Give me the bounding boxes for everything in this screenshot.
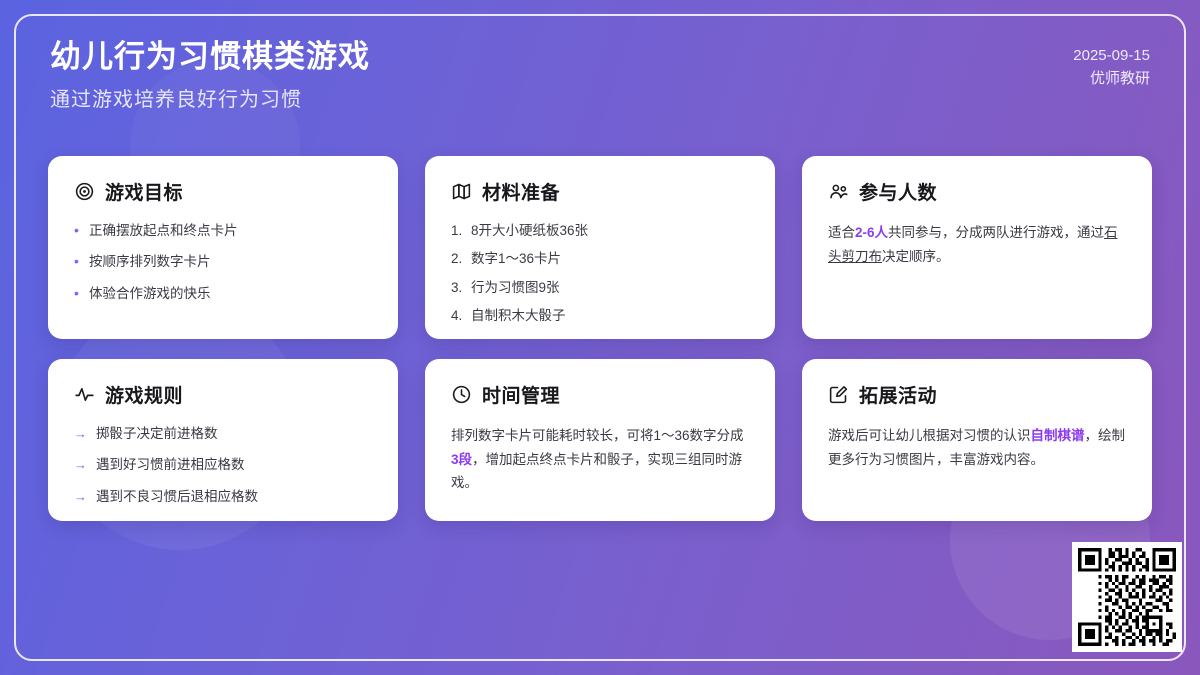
list-item: 体验合作游戏的快乐 (74, 284, 372, 304)
page-title: 幼儿行为习惯棋类游戏 (50, 38, 370, 77)
card-header: 材料准备 (451, 178, 749, 205)
target-icon (74, 181, 95, 202)
text-part: 游戏后可让幼儿根据对习惯的认识 (828, 428, 1031, 443)
qr-code-graphic (1078, 548, 1176, 646)
highlight-count: 2-6人 (855, 225, 888, 240)
users-icon (828, 181, 849, 202)
activity-icon (74, 384, 95, 405)
header-organization: 优师教研 (1073, 67, 1150, 90)
list-item: 按顺序排列数字卡片 (74, 252, 372, 272)
list-item: 数字1～36卡片 (451, 249, 749, 269)
card-grid: 游戏目标 正确摆放起点和终点卡片 按顺序排列数字卡片 体验合作游戏的快乐 材料准… (48, 156, 1152, 521)
list-item: 掷骰子决定前进格数 (74, 424, 372, 444)
list-item: 8开大小硬纸板36张 (451, 221, 749, 241)
card-header: 游戏目标 (74, 178, 372, 205)
card-header: 时间管理 (451, 381, 749, 408)
card-header: 游戏规则 (74, 381, 372, 408)
card-title: 时间管理 (482, 381, 560, 408)
card-title: 材料准备 (482, 178, 560, 205)
card-participants: 参与人数 适合2-6人共同参与，分成两队进行游戏，通过石头剪刀布决定顺序。 (802, 156, 1152, 339)
card-time-management: 时间管理 排列数字卡片可能耗时较长，可将1～36数字分成3段，增加起点终点卡片和… (425, 359, 775, 521)
card-header: 拓展活动 (828, 381, 1126, 408)
map-icon (451, 181, 472, 202)
highlight-term: 自制棋谱 (1031, 428, 1085, 443)
time-management-text: 排列数字卡片可能耗时较长，可将1～36数字分成3段，增加起点终点卡片和骰子，实现… (451, 424, 749, 495)
page-header: 幼儿行为习惯棋类游戏 通过游戏培养良好行为习惯 2025-09-15 优师教研 (50, 38, 1150, 112)
text-part: 适合 (828, 225, 855, 240)
card-game-goals: 游戏目标 正确摆放起点和终点卡片 按顺序排列数字卡片 体验合作游戏的快乐 (48, 156, 398, 339)
text-part: 排列数字卡片可能耗时较长，可将1～36数字分成 (451, 428, 744, 443)
card-extension-activities: 拓展活动 游戏后可让幼儿根据对习惯的认识自制棋谱，绘制更多行为习惯图片，丰富游戏… (802, 359, 1152, 521)
materials-list: 8开大小硬纸板36张 数字1～36卡片 行为习惯图9张 自制积木大骰子 (451, 221, 749, 326)
qr-code[interactable] (1072, 542, 1182, 652)
header-date: 2025-09-15 (1073, 44, 1150, 67)
text-part: ，增加起点终点卡片和骰子，实现三组同时游戏。 (451, 452, 742, 491)
card-title: 游戏目标 (105, 178, 183, 205)
card-title: 参与人数 (859, 178, 937, 205)
participants-text: 适合2-6人共同参与，分成两队进行游戏，通过石头剪刀布决定顺序。 (828, 221, 1126, 268)
list-item: 遇到不良习惯后退相应格数 (74, 487, 372, 507)
header-meta: 2025-09-15 优师教研 (1073, 38, 1150, 91)
goal-list: 正确摆放起点和终点卡片 按顺序排列数字卡片 体验合作游戏的快乐 (74, 221, 372, 304)
clock-icon (451, 384, 472, 405)
edit-square-icon (828, 384, 849, 405)
list-item: 遇到好习惯前进相应格数 (74, 455, 372, 475)
text-part: 决定顺序。 (882, 249, 950, 264)
card-title: 拓展活动 (859, 381, 937, 408)
card-title: 游戏规则 (105, 381, 183, 408)
card-materials: 材料准备 8开大小硬纸板36张 数字1～36卡片 行为习惯图9张 自制积木大骰子 (425, 156, 775, 339)
card-game-rules: 游戏规则 掷骰子决定前进格数 遇到好习惯前进相应格数 遇到不良习惯后退相应格数 (48, 359, 398, 521)
rules-list: 掷骰子决定前进格数 遇到好习惯前进相应格数 遇到不良习惯后退相应格数 (74, 424, 372, 507)
card-header: 参与人数 (828, 178, 1126, 205)
header-titles: 幼儿行为习惯棋类游戏 通过游戏培养良好行为习惯 (50, 38, 370, 112)
list-item: 自制积木大骰子 (451, 306, 749, 326)
list-item: 行为习惯图9张 (451, 278, 749, 298)
list-item: 正确摆放起点和终点卡片 (74, 221, 372, 241)
text-part: 共同参与，分成两队进行游戏，通过 (888, 225, 1104, 240)
extension-text: 游戏后可让幼儿根据对习惯的认识自制棋谱，绘制更多行为习惯图片，丰富游戏内容。 (828, 424, 1126, 471)
highlight-segments: 3段 (451, 452, 472, 467)
page-subtitle: 通过游戏培养良好行为习惯 (50, 83, 370, 112)
